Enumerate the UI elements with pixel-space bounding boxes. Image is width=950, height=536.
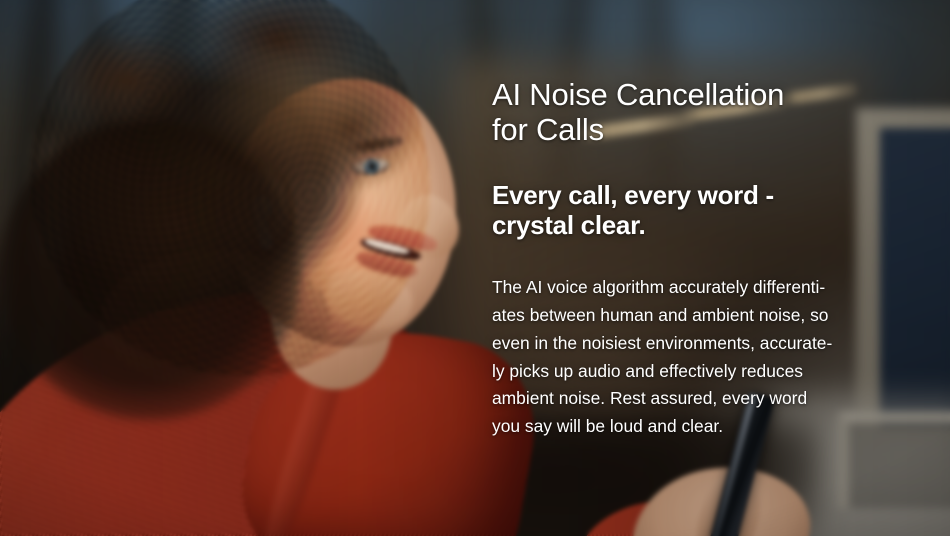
body-paragraph: The AI voice algorithm accurately differ… — [492, 274, 892, 441]
hair-highlight — [200, 30, 390, 170]
subheadline: Every call, every word - crystal clear. — [492, 180, 912, 241]
product-feature-banner: AI Noise Cancellation for Calls Every ca… — [0, 0, 950, 536]
hair-wisps — [100, 250, 330, 390]
marketing-copy-block: AI Noise Cancellation for Calls Every ca… — [492, 0, 912, 536]
headline: AI Noise Cancellation for Calls — [492, 78, 912, 147]
